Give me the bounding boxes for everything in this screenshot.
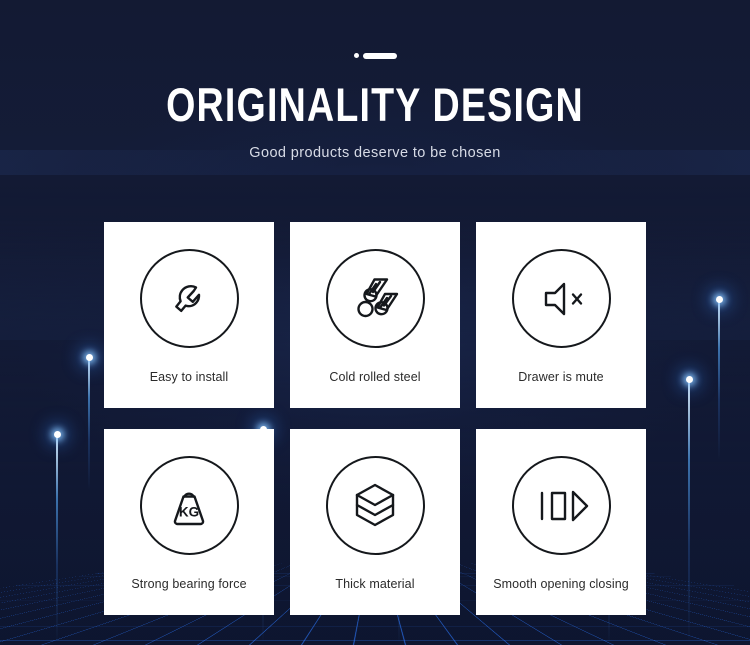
feature-card-label: Easy to install [150, 370, 229, 384]
page-title: ORIGINALITY DESIGN [75, 81, 675, 128]
feature-card-label: Strong bearing force [131, 577, 246, 591]
decoration-dot [354, 53, 359, 58]
layered-cube-icon [326, 456, 425, 555]
feature-card-label: Cold rolled steel [329, 370, 420, 384]
feature-card[interactable]: Drawer is mute [476, 222, 646, 408]
promo-banner: ORIGINALITY DESIGN Good products deserve… [0, 0, 750, 645]
decoration-bar [363, 53, 397, 59]
feature-card[interactable]: Easy to install [104, 222, 274, 408]
feature-card[interactable]: Smooth opening closing [476, 429, 646, 615]
feature-card-label: Thick material [335, 577, 414, 591]
feature-card[interactable]: KG Strong bearing force [104, 429, 274, 615]
wrench-icon [140, 249, 239, 348]
slide-motion-icon [512, 456, 611, 555]
feature-card[interactable]: Thick material [290, 429, 460, 615]
feature-card[interactable]: Cold rolled steel [290, 222, 460, 408]
feature-card-label: Smooth opening closing [493, 577, 629, 591]
svg-text:KG: KG [179, 504, 199, 519]
feature-card-grid: Easy to install Cold rolled steel Drawer… [104, 222, 646, 615]
page-subtitle: Good products deserve to be chosen [0, 145, 750, 161]
speaker-mute-icon [512, 249, 611, 348]
title-decoration [0, 52, 750, 59]
steel-rods-icon [326, 249, 425, 348]
header: ORIGINALITY DESIGN Good products deserve… [0, 0, 750, 161]
feature-card-label: Drawer is mute [518, 370, 603, 384]
kg-weight-icon: KG [140, 456, 239, 555]
